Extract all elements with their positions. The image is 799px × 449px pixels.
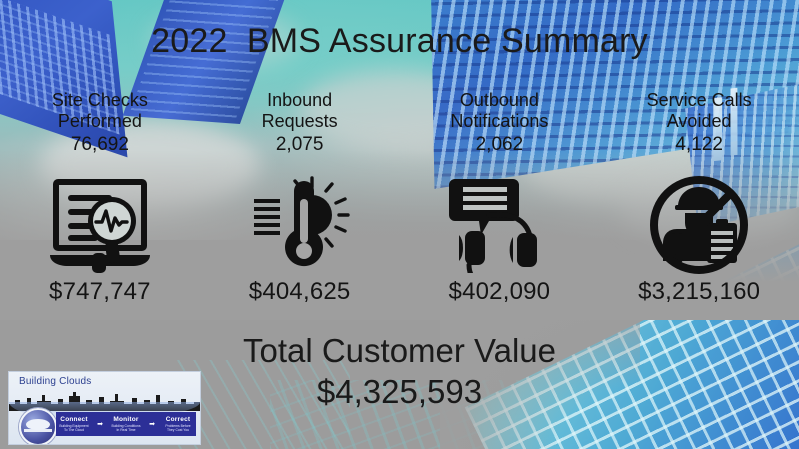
metric-count: 2,075 xyxy=(276,133,324,156)
metric-amount: $747,747 xyxy=(49,278,151,306)
amount-cell: $402,090 xyxy=(400,278,600,306)
metric-caption-line2: Requests xyxy=(262,111,338,132)
metric-column-inbound-requests: Inbound Requests 2,075 xyxy=(200,90,400,282)
amount-cell: $404,625 xyxy=(200,278,400,306)
arrow-right-icon: ➡ xyxy=(144,412,160,436)
metric-count: 76,692 xyxy=(71,133,129,156)
banner-step-sub2: They Cost You xyxy=(160,428,196,432)
metric-amount: $3,215,160 xyxy=(638,278,760,306)
metrics-row: Site Checks Performed 76,692 xyxy=(0,90,799,282)
logo-brand-text: Building Clouds xyxy=(19,376,92,387)
metric-count: 2,062 xyxy=(476,133,524,156)
presentation-slide: 2022 BMS Assurance Summary Site Checks P… xyxy=(0,0,799,449)
banner-step-sub2: In Real Time xyxy=(108,428,144,432)
banner-step-title: Monitor xyxy=(108,416,144,424)
no-technician-icon xyxy=(639,164,759,282)
amounts-row: $747,747 $404,625 $402,090 $3,215,160 xyxy=(0,278,799,306)
metric-count: 4,122 xyxy=(675,133,723,156)
banner-step-title: Connect xyxy=(56,416,92,424)
monitor-magnifier-pulse-icon xyxy=(40,164,160,282)
connect-monitor-correct-banner: Connect Building Equipment To The Cloud … xyxy=(56,412,196,436)
total-label: Total Customer Value xyxy=(0,330,799,371)
amount-cell: $3,215,160 xyxy=(599,278,799,306)
metric-caption-line1: Service Calls xyxy=(647,90,752,111)
banner-step-sub2: To The Cloud xyxy=(56,428,92,432)
metric-amount: $402,090 xyxy=(449,278,551,306)
metric-amount: $404,625 xyxy=(249,278,351,306)
amount-cell: $747,747 xyxy=(0,278,200,306)
headset-message-icon xyxy=(439,164,559,282)
metric-caption-line2: Performed xyxy=(58,111,142,132)
banner-step-connect: Connect Building Equipment To The Cloud xyxy=(56,416,92,432)
banner-step-correct: Correct Problems Before They Cost You xyxy=(160,416,196,432)
metric-caption-line2: Avoided xyxy=(667,111,732,132)
metric-caption-line1: Inbound xyxy=(267,90,332,111)
banner-step-monitor: Monitor Building Conditions In Real Time xyxy=(108,416,144,432)
arrow-right-icon: ➡ xyxy=(92,412,108,436)
metric-column-outbound-notifications: Outbound Notifications 2,062 xyxy=(400,90,600,282)
metric-caption-line1: Site Checks xyxy=(52,90,148,111)
metric-column-site-checks: Site Checks Performed 76,692 xyxy=(0,90,200,282)
metric-column-service-calls-avoided: Service Calls Avoided 4,122 xyxy=(599,90,799,282)
cloud-globe-icon xyxy=(19,408,57,445)
page-title: 2022 BMS Assurance Summary xyxy=(0,22,799,61)
building-clouds-logo: Building Clouds Connect Building Equipme… xyxy=(8,371,201,445)
metric-caption-line1: Outbound xyxy=(460,90,539,111)
thermometer-sun-icon xyxy=(240,164,360,282)
banner-step-title: Correct xyxy=(160,416,196,424)
metric-caption-line2: Notifications xyxy=(450,111,548,132)
